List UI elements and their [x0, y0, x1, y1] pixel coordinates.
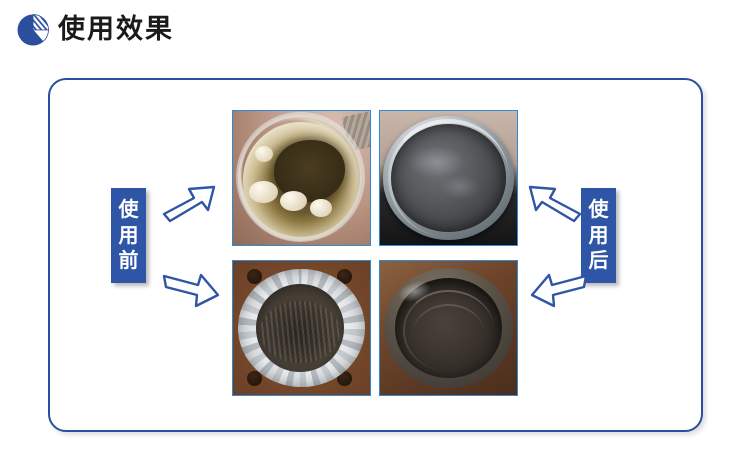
photo-pipe-after-clean: [379, 110, 518, 246]
label-before-char-2: 用: [111, 223, 146, 249]
arrow-top-left-icon: [158, 178, 220, 228]
page-header: 使用效果: [0, 0, 750, 60]
label-after-char-2: 用: [581, 223, 616, 249]
pie-chart-icon: [14, 11, 52, 49]
photo-detail-inner-ledge: [412, 304, 486, 368]
label-before-char-3: 前: [111, 248, 146, 274]
arrow-bottom-right-icon: [524, 266, 592, 316]
label-before-use: 使 用 前: [111, 188, 146, 283]
photo-scene: [380, 261, 517, 395]
arrow-bottom-left-icon: [158, 266, 226, 316]
label-after-char-1: 使: [581, 197, 616, 223]
page-title: 使用效果: [58, 11, 174, 49]
photo-scene: [380, 111, 517, 245]
photo-scene: [233, 111, 370, 245]
photo-detail-highlight: [388, 119, 509, 237]
photo-detail-outer-rim: [236, 112, 365, 242]
photo-flange-after-clean: [379, 260, 518, 396]
photo-scene: [233, 261, 370, 395]
photo-flange-before-scaled: [232, 260, 371, 396]
photo-detail-streaks: [260, 301, 339, 363]
photo-pipe-before-scaled: [232, 110, 371, 246]
photo-grid: [232, 110, 518, 396]
photo-detail-bolt-hole: [247, 269, 262, 284]
arrow-top-right-icon: [524, 178, 586, 228]
label-before-char-1: 使: [111, 197, 146, 223]
